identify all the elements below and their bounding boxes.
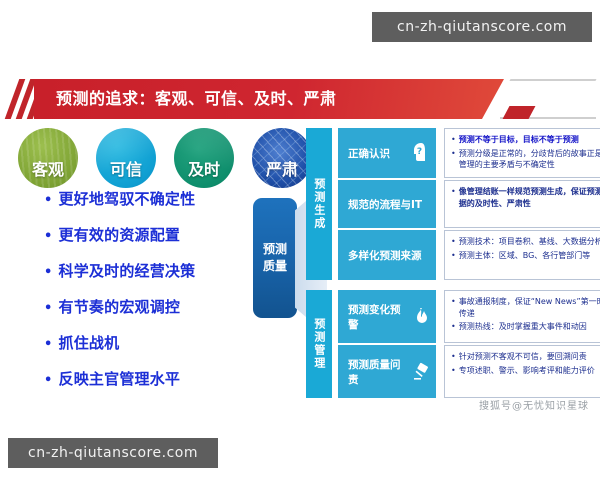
circle-timely: 及时 [174,128,234,188]
circle-objective: 客观 [18,128,78,188]
content-text: 预测技术：项目卷积、基线、大数据分析 [459,236,600,248]
bullet-marker: • [451,186,456,198]
list-item: • 有节奏的宏观调控 [44,296,264,317]
head-question-icon: ? [412,142,430,164]
gavel-icon [412,362,430,382]
content-item: • 专项述职、警示、影响考评和能力评价 [451,365,600,377]
bullet-marker: • [44,374,53,387]
page-title: 预测的追求：客观、可信、及时、严肃 [56,79,337,119]
table-row: 预测质量问责 • 针对预测不客观不可信，要回溯问责 • 专项述职、警示、影响考评… [338,345,600,398]
slide-canvas: cn-zh-qiutanscore.com cn-zh-qiutanscore.… [0,0,600,480]
bullet-marker: • [451,148,456,160]
content-item: • 预测技术：项目卷积、基线、大数据分析 [451,236,600,248]
content-item: • 针对预测不客观不可信，要回溯问责 [451,351,600,363]
row-label-text: 预测质量问责 [348,357,408,387]
circle-credible: 可信 [96,128,156,188]
table-row: 规范的流程与IT • 像管理结账一样规范预测生成，保证预测数据的及时性、严肃性 [338,180,600,228]
list-item: • 更好地驾驭不确定性 [44,188,264,209]
list-item-label: 抓住战机 [59,332,120,353]
circle-label: 及时 [174,156,234,180]
row-content: • 事故通报制度，保证“New News”第一时间传递 • 预测热线：及时掌握重… [444,290,600,343]
group-label-text: 预测管理 [312,318,326,370]
row-label-text: 规范的流程与IT [348,197,422,212]
bullet-marker: • [451,351,456,363]
content-text: 预测热线：及时掌握重大事件和动因 [459,321,587,333]
row-label-text: 多样化预测来源 [348,248,422,263]
benefits-list: • 更好地驾驭不确定性 • 更有效的资源配置 • 科学及时的经营决策 • 有节奏… [44,188,264,404]
row-content: • 预测技术：项目卷积、基线、大数据分析 • 预测主体：区域、BG、各行管部门等 [444,230,600,280]
author-signature: 搜狐号@无忧知识星球 [479,397,589,412]
svg-text:?: ? [417,147,422,157]
bullet-marker: • [451,296,456,308]
content-text: 预测分级是正常的，分歧背后的故事正是要管理的主要矛盾与不确定性 [459,148,600,171]
list-item-label: 反映主官管理水平 [59,368,181,389]
content-text: 专项述职、警示、影响考评和能力评价 [459,365,595,377]
content-item: • 预测主体：区域、BG、各行管部门等 [451,250,600,262]
circle-label: 可信 [96,156,156,180]
content-item: • 事故通报制度，保证“New News”第一时间传递 [451,296,600,319]
bullet-marker: • [44,194,53,207]
core-label-line1: 预测 [263,241,287,258]
row-label: 正确认识 ? [338,128,436,178]
forecast-quality-diagram: 预测 质量 预测生成 正确认识 ? • 预测不等于目标，目标不等于预测 [253,128,593,398]
row-label: 规范的流程与IT [338,180,436,228]
content-item: • 像管理结账一样规范预测生成，保证预测数据的及时性、严肃性 [451,186,600,209]
table-row: 预测变化预警 • 事故通报制度，保证“New News”第一时间传递 • 预测热… [338,290,600,343]
row-label: 预测质量问责 [338,345,436,398]
list-item: • 反映主官管理水平 [44,368,264,389]
table-row: 多样化预测来源 • 预测技术：项目卷积、基线、大数据分析 • 预测主体：区域、B… [338,230,600,280]
content-text: 预测不等于目标，目标不等于预测 [459,134,579,146]
list-item-label: 科学及时的经营决策 [59,260,196,281]
core-label-line2: 质量 [263,258,287,275]
row-label-text: 预测变化预警 [348,302,410,332]
list-item-label: 有节奏的宏观调控 [59,296,181,317]
list-item-label: 更有效的资源配置 [59,224,181,245]
content-item: • 预测不等于目标，目标不等于预测 [451,134,600,146]
group-forecast-management: 预测管理 预测变化预警 • 事故通报制度，保证“New News”第一时间传递 … [306,290,596,398]
content-item: • 预测分级是正常的，分歧背后的故事正是要管理的主要矛盾与不确定性 [451,148,600,171]
list-item-label: 更好地驾驭不确定性 [59,188,196,209]
watermark-top: cn-zh-qiutanscore.com [372,12,592,42]
content-text: 像管理结账一样规范预测生成，保证预测数据的及时性、严肃性 [459,186,600,209]
content-text: 预测主体：区域、BG、各行管部门等 [459,250,591,262]
content-item: • 预测热线：及时掌握重大事件和动因 [451,321,600,333]
bullet-marker: • [451,365,456,377]
row-content: • 像管理结账一样规范预测生成，保证预测数据的及时性、严肃性 [444,180,600,228]
row-content: • 针对预测不客观不可信，要回溯问责 • 专项述职、警示、影响考评和能力评价 [444,345,600,398]
bullet-marker: • [451,250,456,262]
bullet-marker: • [451,321,456,333]
circle-label: 客观 [18,156,78,180]
bullet-marker: • [44,302,53,315]
content-text: 针对预测不客观不可信，要回溯问责 [459,351,587,363]
group-label: 预测管理 [306,290,332,398]
row-label: 预测变化预警 [338,290,436,343]
watermark-bottom: cn-zh-qiutanscore.com [8,438,218,468]
list-item: • 科学及时的经营决策 [44,260,264,281]
group-label-text: 预测生成 [312,178,326,230]
group-label: 预测生成 [306,128,332,280]
title-banner: 预测的追求：客观、可信、及时、严肃 [0,75,600,123]
flame-icon [414,307,430,327]
row-label: 多样化预测来源 [338,230,436,280]
row-content: • 预测不等于目标，目标不等于预测 • 预测分级是正常的，分歧背后的故事正是要管… [444,128,600,178]
list-item: • 抓住战机 [44,332,264,353]
list-item: • 更有效的资源配置 [44,224,264,245]
bullet-marker: • [44,230,53,243]
bullet-marker: • [44,338,53,351]
bullet-marker: • [451,134,456,146]
core-node-forecast-quality: 预测 质量 [253,198,297,318]
bullet-marker: • [44,266,53,279]
table-row: 正确认识 ? • 预测不等于目标，目标不等于预测 • 预测分级是正常的，分歧背后… [338,128,600,178]
row-label-text: 正确认识 [348,146,390,161]
bullet-marker: • [451,236,456,248]
content-text: 事故通报制度，保证“New News”第一时间传递 [459,296,600,319]
group-forecast-generation: 预测生成 正确认识 ? • 预测不等于目标，目标不等于预测 • 预 [306,128,596,280]
banner-tail-decoration [500,79,596,119]
